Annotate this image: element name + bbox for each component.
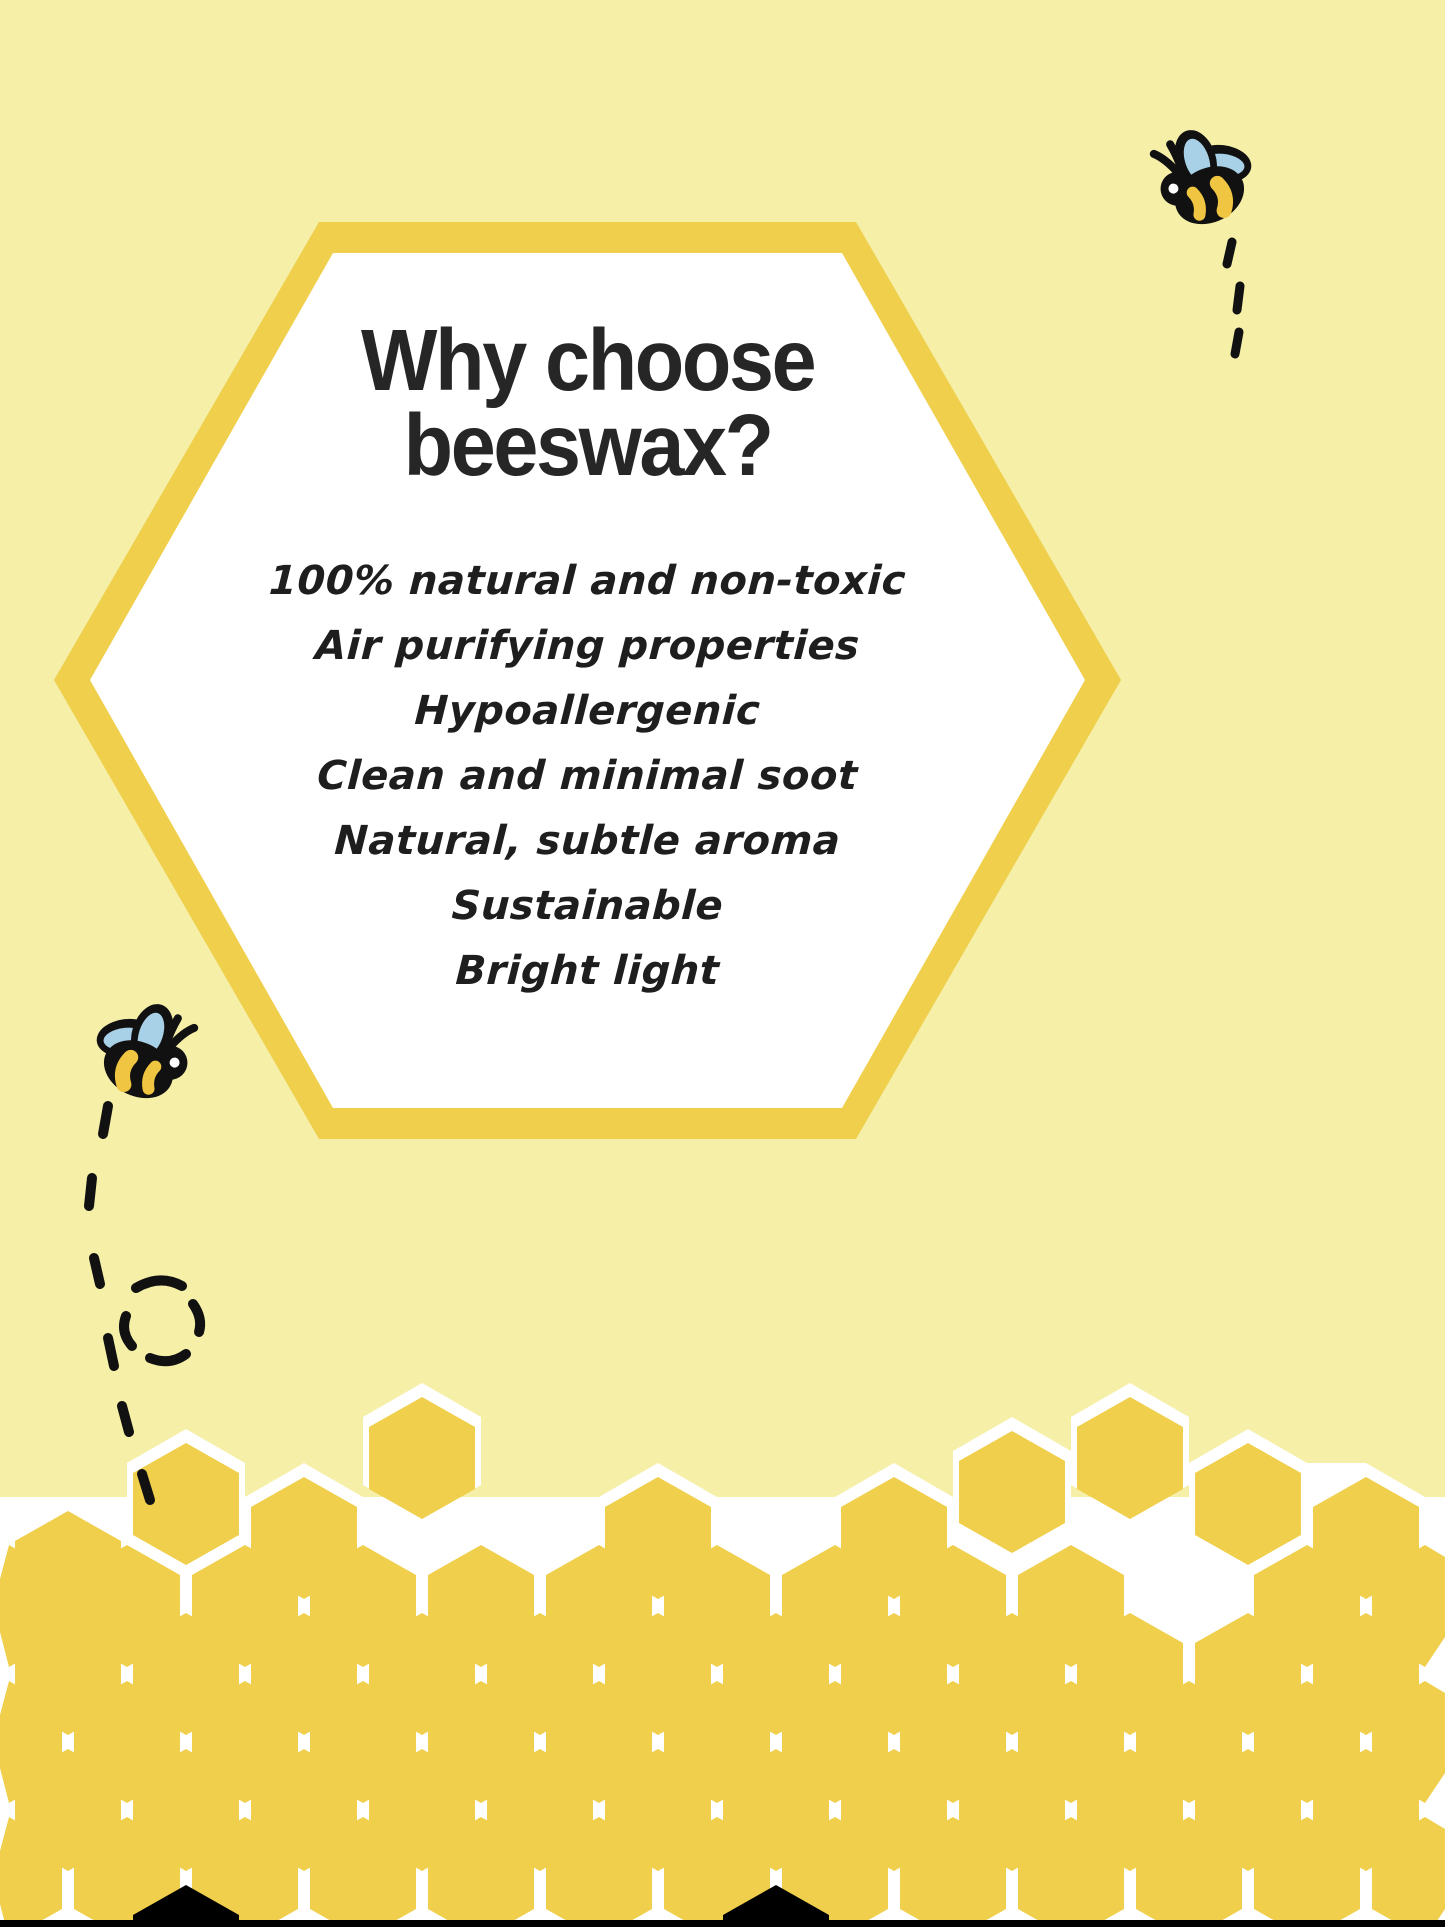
list-item: Bright light xyxy=(49,951,1126,991)
page-title: Why choose beeswax? xyxy=(361,318,814,489)
flight-trail-icon xyxy=(60,1092,280,1542)
baseline-rule xyxy=(0,1920,1445,1927)
poster-canvas: Why choose beeswax? 100% natural and non… xyxy=(0,0,1445,1927)
list-item: Hypoallergenic xyxy=(49,691,1126,731)
list-item: 100% natural and non-toxic xyxy=(49,561,1126,601)
hexagon-content: Why choose beeswax? 100% natural and non… xyxy=(50,218,1125,1143)
list-item: Natural, subtle aroma xyxy=(49,821,1126,861)
list-item: Air purifying properties xyxy=(49,626,1126,666)
bee-icon xyxy=(1140,128,1270,248)
benefits-list: 100% natural and non-toxic Air purifying… xyxy=(50,561,1125,1016)
list-item: Sustainable xyxy=(49,886,1126,926)
flight-trail-icon xyxy=(1150,236,1260,376)
list-item: Clean and minimal soot xyxy=(49,756,1126,796)
